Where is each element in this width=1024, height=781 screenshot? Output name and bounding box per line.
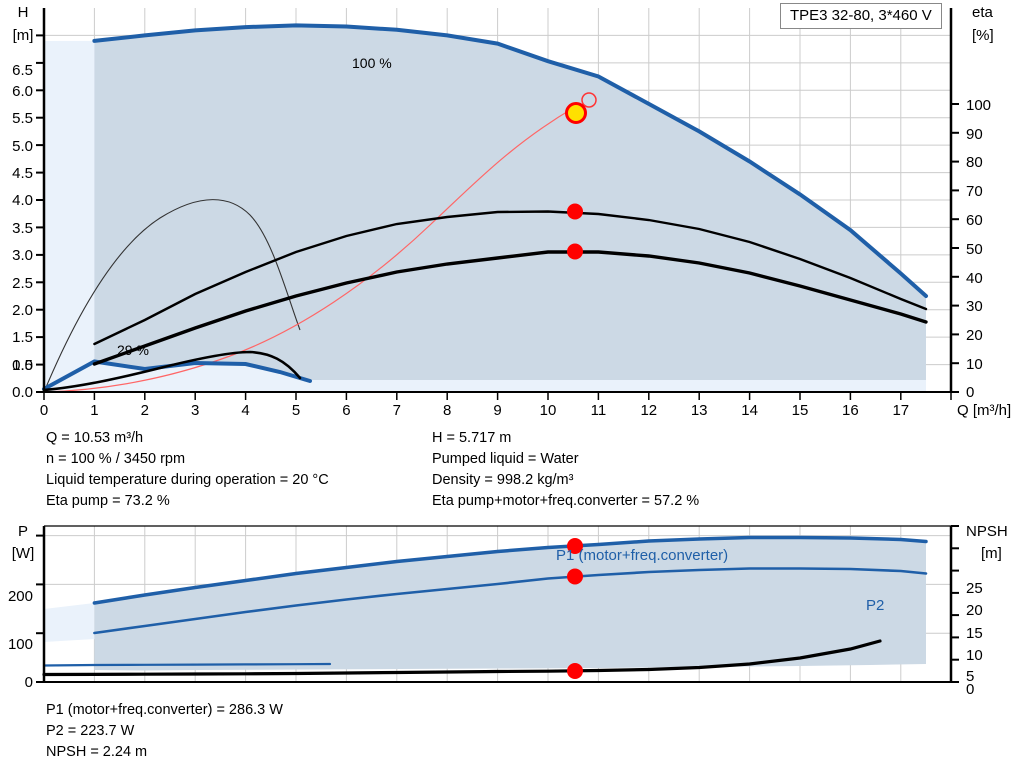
tick-label: 60 [966,212,983,229]
tick-label: 2.5 [12,275,33,292]
tick-label: 0 [25,674,33,691]
tick-label: 80 [966,154,983,171]
tick-label: 30 [966,298,983,315]
tick-label: 13 [691,402,708,419]
tick-label: 15 [966,625,983,642]
tick-label: 6.0 [12,83,33,100]
tick-label: 100 [8,636,33,653]
tick-label: 12 [640,402,657,419]
tick-label: 10 [966,356,983,373]
tick-label: 20 [966,327,983,344]
top-y-tick-labels: 6.5 6.0 5.5 5.0 4.5 4.0 3.5 3.0 2.5 2.0 … [12,62,33,374]
top-bottom-ticks [44,392,951,400]
tick-label: 0 [966,681,974,698]
tick-label: 40 [966,270,983,287]
bottom-npsh-axis-unit: [m] [981,545,1002,562]
tick-label: 2 [141,402,149,419]
p2-curve-label: P2 [866,597,884,614]
tick-label: 4.0 [12,192,33,209]
info-density: Density = 998.2 kg/m³ [432,470,699,491]
tick-label: 9 [493,402,501,419]
result-p1: P1 (motor+freq.converter) = 286.3 W [46,700,283,721]
tick-label: 70 [966,183,983,200]
tick-label: 6.5 [12,62,33,79]
tick-label: 200 [8,588,33,605]
tick-label: 1.5 [12,329,33,346]
tick-label: 8 [443,402,451,419]
tick-label: 20 [966,602,983,619]
tick-label: 0 [40,402,48,419]
tick-label: 15 [792,402,809,419]
npsh-duty-point-marker[interactable] [567,663,583,679]
info-h: H = 5.717 m [432,428,699,449]
p2-duty-point-marker[interactable] [567,569,583,585]
tick-label: 50 [966,241,983,258]
tick-label: 17 [892,402,909,419]
duty-point-eta-pump-marker[interactable] [567,204,583,220]
operating-data-left-column: Q = 10.53 m³/h n = 100 % / 3450 rpm Liqu… [46,428,329,512]
bottom-npsh-axis-title: NPSH [966,523,1008,540]
top-chart: H [m] 6.5 6.0 5.5 5.0 4.5 4.0 3.5 3.0 2.… [0,0,1024,420]
p1-curve-label: P1 (motor+freq.converter) [556,547,728,564]
tick-label: 10 [966,647,983,664]
tick-label: 0.5 [12,357,33,374]
tick-label: 0.0 [12,384,33,401]
tick-label: 2.0 [12,302,33,319]
min-speed-curve-label: 29 % [117,342,149,358]
tick-label: 5 [292,402,300,419]
tick-label: 7 [393,402,401,419]
tick-label: 90 [966,126,983,143]
info-liquid-temp: Liquid temperature during operation = 20… [46,470,329,491]
top-eta-tick-labels: 100 90 80 70 60 50 40 30 20 10 0 [966,97,991,401]
info-eta-total: Eta pump+motor+freq.converter = 57.2 % [432,491,699,512]
operating-data-right-column: H = 5.717 m Pumped liquid = Water Densit… [432,428,699,512]
top-y-axis-title: H [18,4,29,21]
tick-label: 3 [191,402,199,419]
bottom-y-axis-unit: [W] [12,545,35,562]
result-p2: P2 = 223.7 W [46,721,283,742]
info-pumped-liquid: Pumped liquid = Water [432,449,699,470]
model-title-label: TPE3 32-80, 3*460 V [790,7,932,24]
tick-label: 4.5 [12,165,33,182]
tick-label: 0 [966,384,974,401]
tick-label: 100 [966,97,991,114]
info-q: Q = 10.53 m³/h [46,428,329,449]
tick-label: 10 [540,402,557,419]
top-y-axis-unit: [m] [13,27,34,44]
duty-point-marker[interactable] [567,104,586,123]
tick-label: 25 [966,580,983,597]
p-min-speed-curve [44,664,330,666]
tick-label: 4 [241,402,249,419]
top-x-axis-label: Q [m³/h] [957,402,1011,419]
tick-label: 5.5 [12,110,33,127]
info-speed: n = 100 % / 3450 rpm [46,449,329,470]
tick-label: 16 [842,402,859,419]
info-eta-pump: Eta pump = 73.2 % [46,491,329,512]
bottom-y-axis-title: P [18,523,28,540]
top-x-tick-labels: 0 1 2 3 4 5 6 7 8 9 10 11 12 13 14 15 16… [40,402,909,419]
tick-label: 3.0 [12,247,33,264]
tick-label: 14 [741,402,758,419]
duty-point-eta-total-marker[interactable] [567,244,583,260]
top-eta-axis-unit: [%] [972,27,994,44]
bottom-envelope-light [44,603,94,642]
tick-label: 6 [342,402,350,419]
tick-label: 5.0 [12,138,33,155]
result-data-panel: P1 (motor+freq.converter) = 286.3 W P2 =… [46,700,283,763]
result-npsh: NPSH = 2.24 m [46,742,283,763]
tick-label: 3.5 [12,220,33,237]
max-speed-curve-label: 100 % [352,55,392,71]
tick-label: 1 [90,402,98,419]
model-title-box: TPE3 32-80, 3*460 V [780,3,942,29]
bottom-chart: P [W] NPSH [m] 200 100 0 25 20 15 10 5 0… [0,518,1024,698]
tick-label: 11 [591,402,607,419]
top-eta-axis-title: eta [972,4,994,21]
pump-curve-screen: H [m] 6.5 6.0 5.5 5.0 4.5 4.0 3.5 3.0 2.… [0,0,1024,781]
